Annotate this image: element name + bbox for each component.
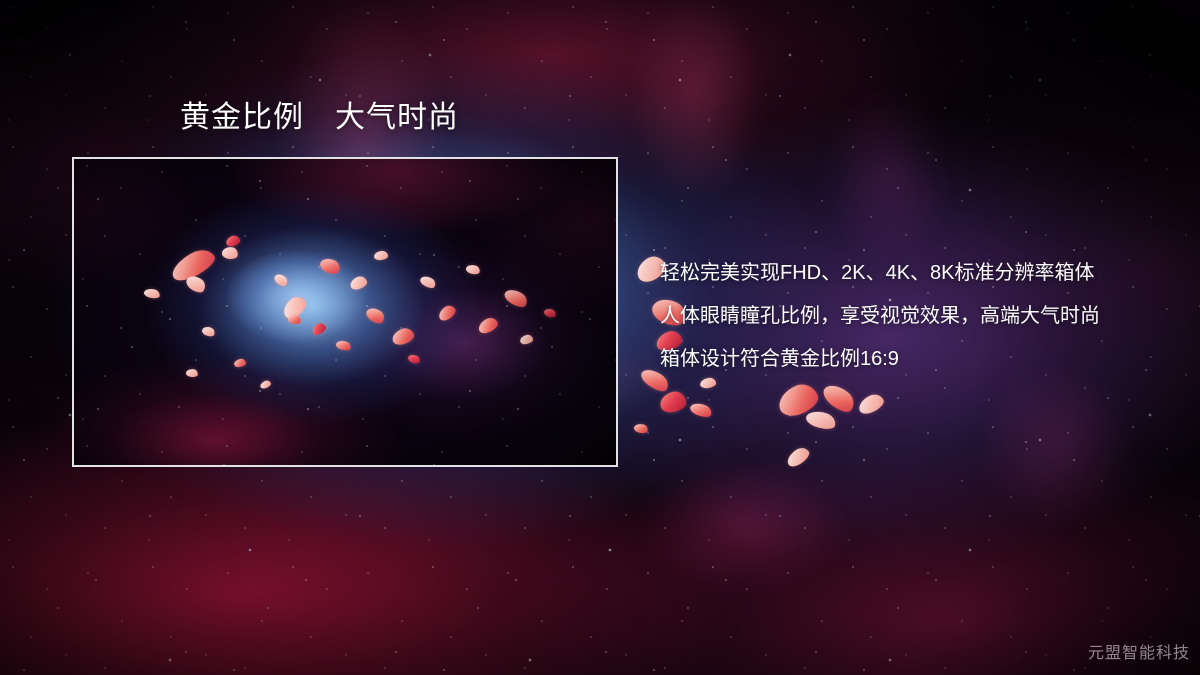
preview-vignette [74,159,616,465]
body-text-block: 轻松完美实现FHD、2K、4K、8K标准分辨率箱体 人体眼睛瞳孔比例，享受视觉效… [660,252,1180,381]
slide-canvas: 黄金比例 大气时尚 轻松完美实现FHD、2K、4K、8K标准分辨率箱体 人体眼睛… [0,0,1200,675]
body-line-2: 人体眼睛瞳孔比例，享受视觉效果，高端大气时尚 [660,295,1180,338]
petal [804,408,837,432]
petal [856,391,886,417]
body-line-3: 箱体设计符合黄金比例16:9 [660,338,1180,381]
preview-image-frame [72,157,618,467]
body-line-1: 轻松完美实现FHD、2K、4K、8K标准分辨率箱体 [660,252,1180,295]
petal [819,380,858,417]
petal [784,444,812,469]
petal [658,390,688,415]
petal [689,401,714,420]
petal [633,423,649,435]
watermark-label: 元盟智能科技 [1088,639,1190,663]
page-title: 黄金比例 大气时尚 [180,100,459,136]
preview-image-content [74,159,616,465]
